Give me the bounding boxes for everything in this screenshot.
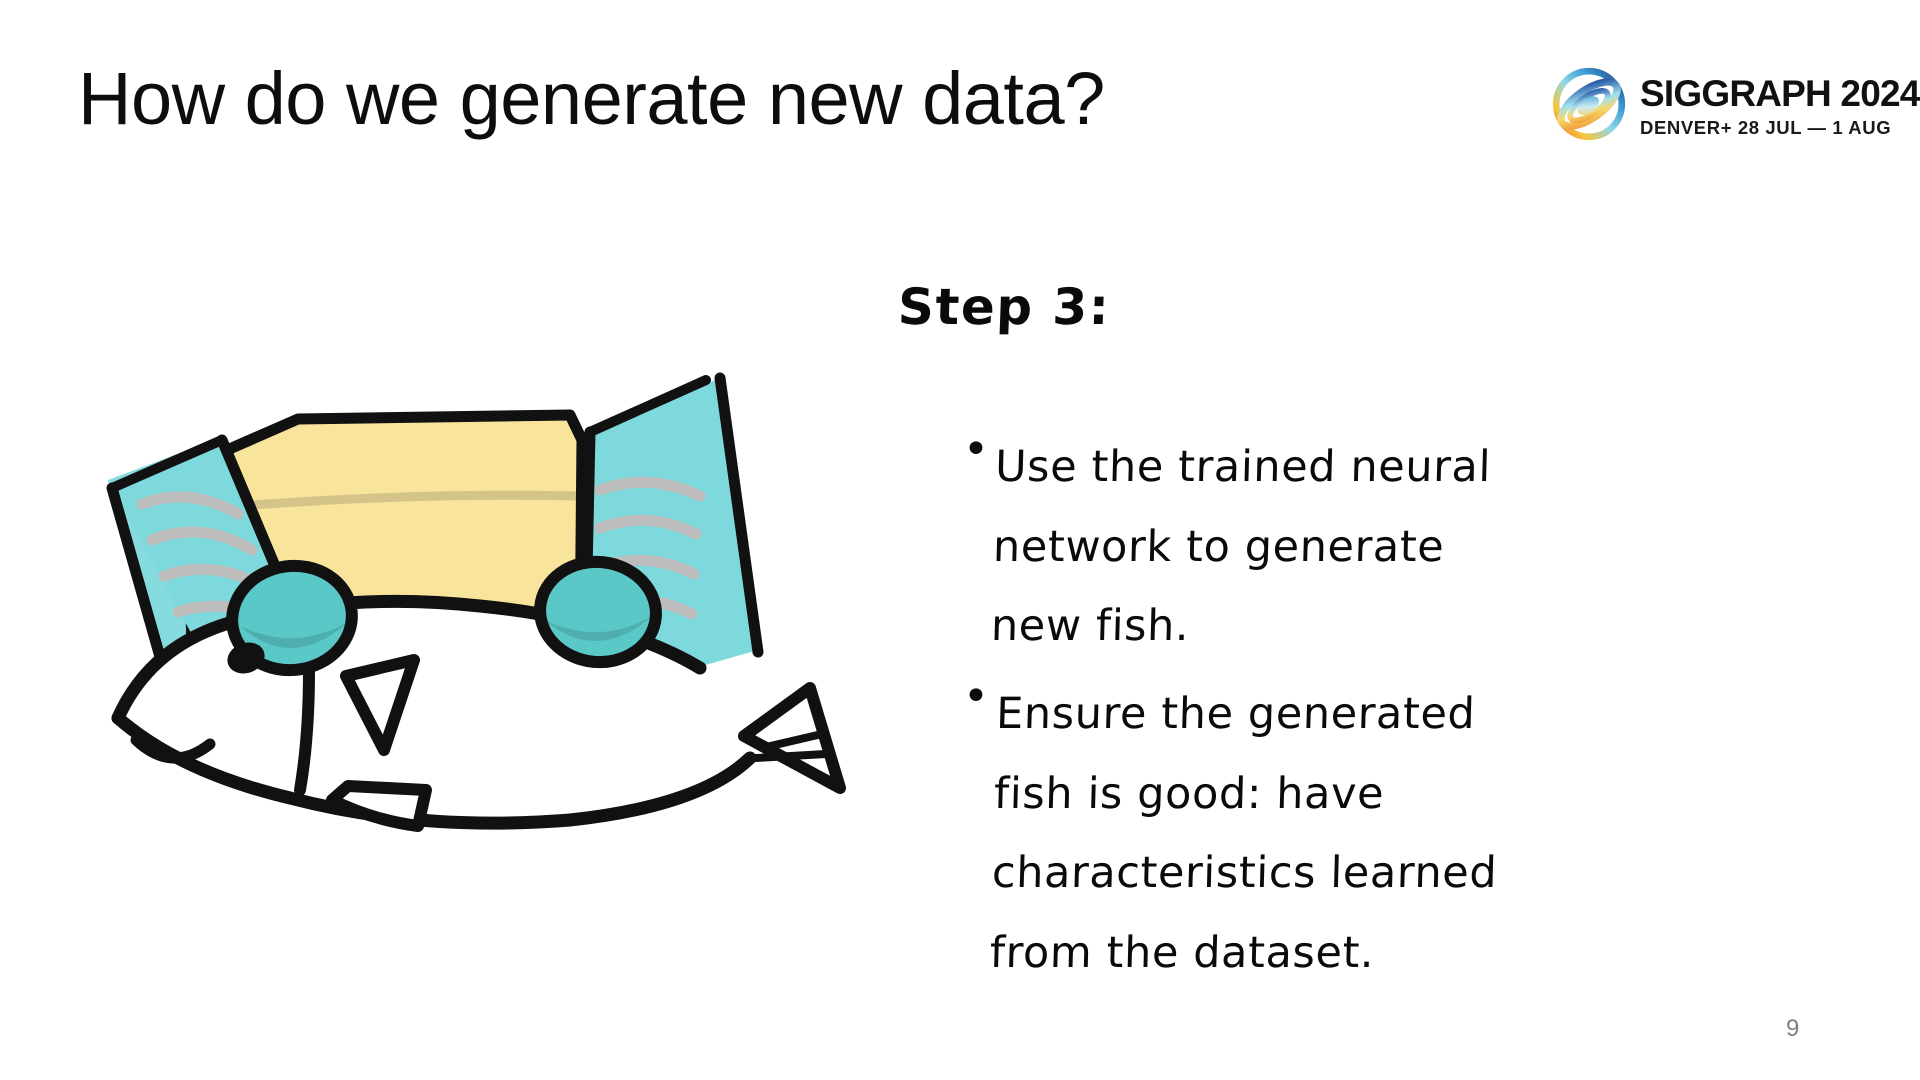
list-item: • Ensure the generated fish is good: hav… xyxy=(963,675,1563,993)
bullet-dot-icon: • xyxy=(963,428,993,471)
right-hand xyxy=(535,556,661,668)
siggraph-logo-title: SIGGRAPH 2024 xyxy=(1640,75,1920,112)
bullet-text: Ensure the generated fish is good: have … xyxy=(989,675,1552,993)
bullet-dot-icon: • xyxy=(963,675,993,718)
siggraph-logo: SIGGRAPH 2024 DENVER+ 28 JUL — 1 AUG xyxy=(1548,52,1918,156)
cartoon-fish-illustration xyxy=(100,320,940,900)
ventral-fin xyxy=(332,786,426,826)
siggraph-logo-subtitle: DENVER+ 28 JUL — 1 AUG xyxy=(1640,119,1920,138)
page-number: 9 xyxy=(1786,1015,1799,1043)
bullet-text: Use the trained neural network to genera… xyxy=(990,428,1551,667)
page-title: How do we generate new data? xyxy=(78,58,1105,139)
slide-canvas: How do we generate new data? xyxy=(0,0,1920,1080)
siggraph-logo-text: SIGGRAPH 2024 DENVER+ 28 JUL — 1 AUG xyxy=(1640,71,1920,138)
bullet-list: • Use the trained neural network to gene… xyxy=(963,428,1563,1001)
step-heading: Step 3: xyxy=(897,278,1111,336)
list-item: • Use the trained neural network to gene… xyxy=(963,428,1563,667)
siggraph-sphere-swirl-icon xyxy=(1548,63,1630,145)
